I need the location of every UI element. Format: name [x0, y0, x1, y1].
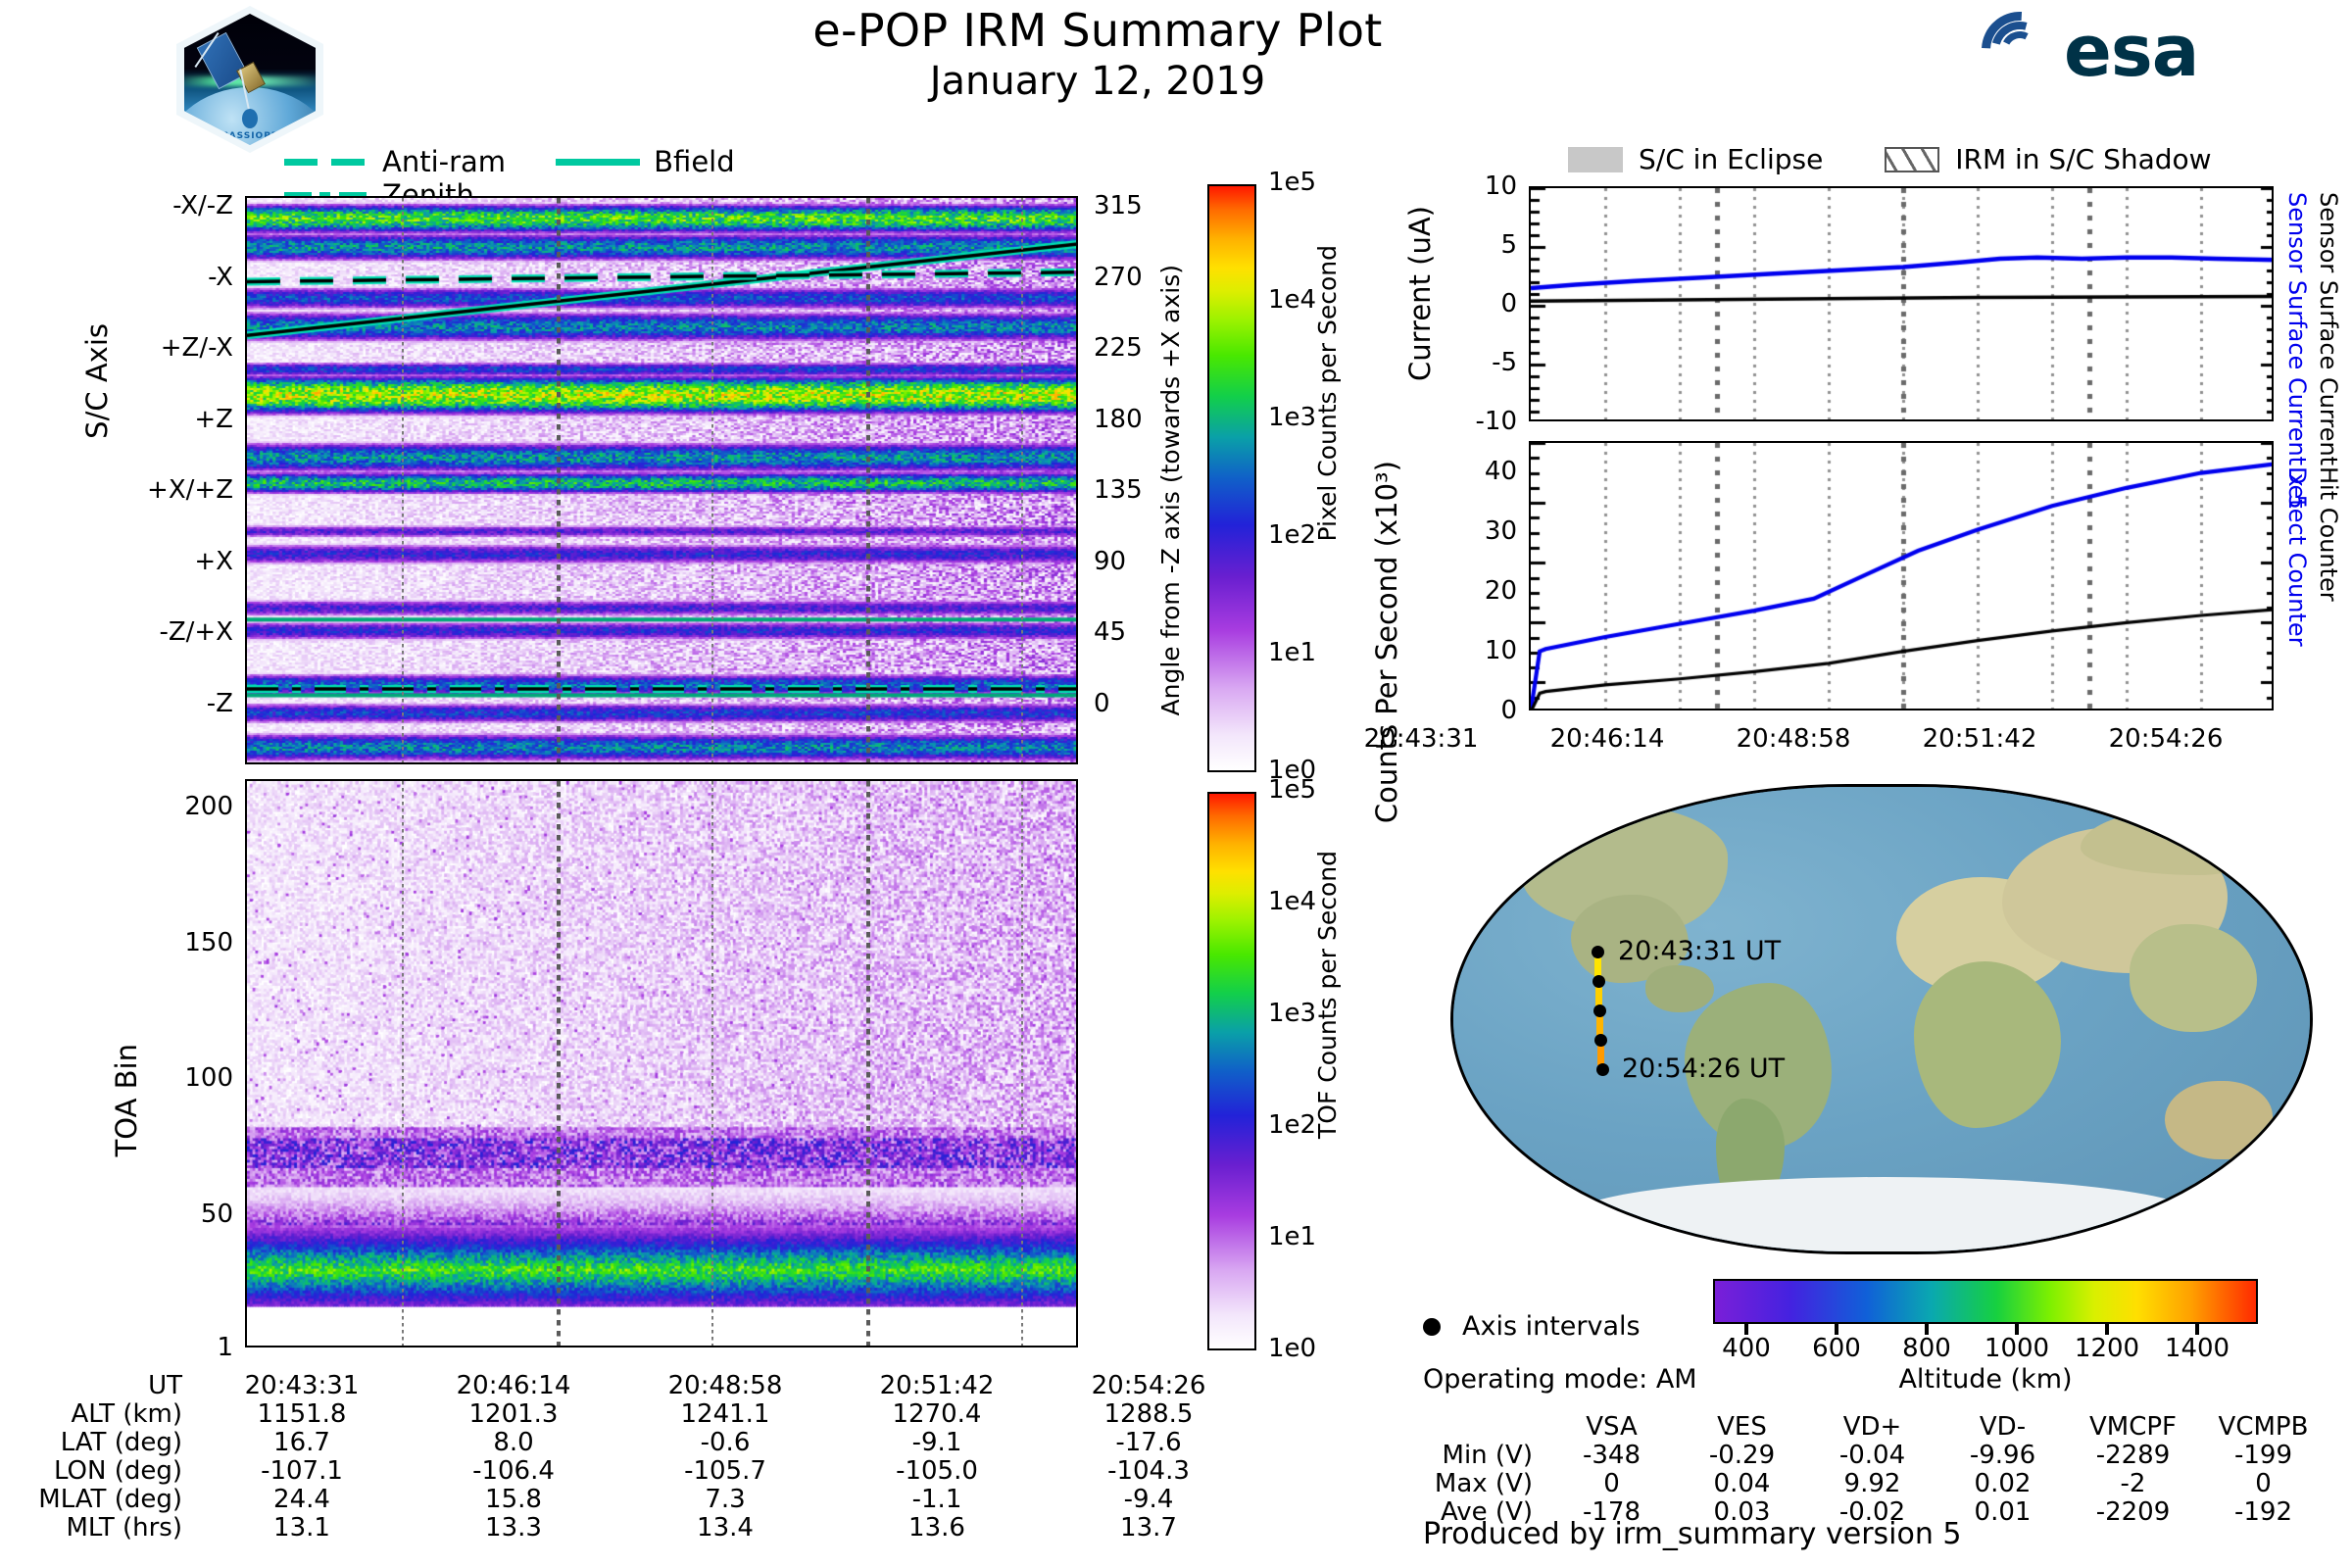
- altitude-colorbar-tick: 800: [1884, 1334, 1970, 1363]
- table-row: MLAT (deg)24.415.87.3-1.1-9.4: [29, 1486, 1254, 1514]
- counts-x-tick-label: 20:54:26: [2058, 724, 2274, 754]
- table-cell: 20:54:26: [1043, 1372, 1254, 1400]
- table-cell: -2289: [2068, 1442, 2198, 1470]
- table-cell: -104.3: [1043, 1457, 1254, 1486]
- table-cell: -1.1: [831, 1486, 1043, 1514]
- spectrogram-angle-tick-label: 225: [1094, 333, 1182, 363]
- current-y-tick-label: 10: [1411, 171, 1517, 201]
- cassiope-logo-text: CASSIOPE: [184, 131, 316, 141]
- altitude-colorbar-tick: 600: [1793, 1334, 1880, 1363]
- table-cell: 13.7: [1043, 1514, 1254, 1543]
- table-cell: 0: [1546, 1470, 1677, 1498]
- tof-colorbar-tick: 1e4: [1268, 887, 1316, 916]
- table-row-label: MLT (hrs): [29, 1514, 196, 1543]
- table-row: MLT (hrs)13.113.313.413.613.7: [29, 1514, 1254, 1543]
- table-cell: 0: [2198, 1470, 2328, 1498]
- counts-x-tick-label: 20:48:58: [1686, 724, 1901, 754]
- table-header-row: VSAVESVD+VD-VMCPFVCMPB: [1419, 1413, 2328, 1442]
- table-cell: 1201.3: [408, 1400, 619, 1429]
- toa-y-axis-title: TOA Bin: [110, 1044, 143, 1156]
- table-cell: -9.4: [1043, 1486, 1254, 1514]
- table-cell: -105.7: [619, 1457, 831, 1486]
- operating-mode-label: Operating mode: AM: [1423, 1364, 1697, 1395]
- spectrogram-y-tick-label: +X: [76, 547, 233, 576]
- spectrogram-y-tick-label: -X: [76, 263, 233, 292]
- table-cell: 8.0: [408, 1429, 619, 1457]
- table-cell: 1288.5: [1043, 1400, 1254, 1429]
- pixel-colorbar[interactable]: [1207, 184, 1256, 772]
- table-row: Min (V)-348-0.29-0.04-9.96-2289-199: [1419, 1442, 2328, 1470]
- table-row-label: UT: [29, 1372, 196, 1400]
- legend-item-bfield: Bfield: [556, 145, 734, 178]
- legend-item-sc-eclipse: S/C in Eclipse: [1568, 143, 1823, 175]
- spectrogram-y-tick-label: -X/-Z: [76, 191, 233, 220]
- current-plot[interactable]: [1529, 186, 2274, 421]
- counts-right-label-blue: Detect Counter: [2283, 466, 2311, 647]
- pixel-colorbar-tick: 1e4: [1268, 285, 1316, 315]
- table-corner: [1419, 1413, 1546, 1442]
- toa-y-tick-label: 200: [98, 792, 233, 821]
- table-row-label: Max (V): [1419, 1470, 1546, 1498]
- counts-y-tick-label: 30: [1411, 516, 1517, 546]
- map-end-time-label: 20:54:26 UT: [1622, 1053, 1785, 1084]
- toa-y-tick-label: 1: [98, 1333, 233, 1362]
- legend-label-sc-eclipse: S/C in Eclipse: [1639, 143, 1823, 175]
- spectrogram-angle-tick-label: 45: [1094, 617, 1182, 647]
- spectrogram-angle-tick-label: 180: [1094, 405, 1182, 434]
- altitude-colorbar-tick: 400: [1703, 1334, 1789, 1363]
- counts-y-tick-label: 40: [1411, 457, 1517, 486]
- table-row-label: LAT (deg): [29, 1429, 196, 1457]
- spectrogram-angle-tick-label: 90: [1094, 547, 1182, 576]
- table-cell: -17.6: [1043, 1429, 1254, 1457]
- spectrogram-angle-tick-label: 270: [1094, 263, 1182, 292]
- table-cell: 9.92: [1807, 1470, 1937, 1498]
- counts-y-tick-label: 20: [1411, 576, 1517, 606]
- tof-colorbar-label: TOF Counts per Second: [1313, 851, 1342, 1139]
- table-cell: -199: [2198, 1442, 2328, 1470]
- orbit-map[interactable]: 20:43:31 UT 20:54:26 UT: [1450, 784, 2313, 1254]
- pixel-colorbar-tick: 1e5: [1268, 168, 1316, 197]
- table-cell: -192: [2198, 1498, 2328, 1527]
- table-row-label: LON (deg): [29, 1457, 196, 1486]
- table-cell: 15.8: [408, 1486, 619, 1514]
- table-cell: 0.02: [1937, 1470, 2068, 1498]
- eclipse-legend: S/C in Eclipse IRM in S/C Shadow: [1568, 143, 2212, 179]
- map-start-time-label: 20:43:31 UT: [1618, 936, 1781, 966]
- dot-marker-icon: [1423, 1318, 1441, 1336]
- altitude-colorbar[interactable]: [1713, 1279, 2258, 1324]
- tof-colorbar[interactable]: [1207, 792, 1256, 1350]
- table-cell: 1151.8: [196, 1400, 408, 1429]
- table-cell: 1241.1: [619, 1400, 831, 1429]
- grey-fill-icon: [1568, 147, 1623, 172]
- table-cell: 0.04: [1677, 1470, 1807, 1498]
- spectrogram-angle-tick-label: 315: [1094, 191, 1182, 220]
- title-main: e-POP IRM Summary Plot: [608, 4, 1588, 57]
- table-cell: 7.3: [619, 1486, 831, 1514]
- table-column-header: VSA: [1546, 1413, 1677, 1442]
- counts-x-tick-label: 20:51:42: [1872, 724, 2087, 754]
- table-row-label: ALT (km): [29, 1400, 196, 1429]
- table-cell: 13.3: [408, 1514, 619, 1543]
- table-cell: 13.4: [619, 1514, 831, 1543]
- title-date: January 12, 2019: [608, 59, 1588, 104]
- current-right-label-blue: Sensor Surface Current x 5: [2283, 192, 2311, 510]
- altitude-colorbar-tick: 1200: [2064, 1334, 2150, 1363]
- table-cell: -2209: [2068, 1498, 2198, 1527]
- table-column-header: VD-: [1937, 1413, 2068, 1442]
- pixel-colorbar-label: Pixel Counts per Second: [1313, 245, 1342, 541]
- counts-y-axis-title: Counts Per Second (x10³): [1370, 461, 1403, 823]
- altitude-colorbar-label: Altitude (km): [1713, 1364, 2258, 1395]
- axis-intervals-label: Axis intervals: [1462, 1311, 1641, 1342]
- spectrogram-y-tick-label: -Z/+X: [76, 617, 233, 647]
- tof-colorbar-tick: 1e3: [1268, 999, 1316, 1028]
- toa-spectrogram-plot[interactable]: [245, 779, 1078, 1347]
- table-cell: 13.1: [196, 1514, 408, 1543]
- altitude-colorbar-tickmark: [1835, 1324, 1838, 1335]
- altitude-colorbar-tickmark: [1744, 1324, 1748, 1335]
- altitude-colorbar-tickmark: [2015, 1324, 2019, 1335]
- tof-colorbar-tick: 1e2: [1268, 1110, 1316, 1140]
- table-cell: 13.6: [831, 1514, 1043, 1543]
- counts-plot[interactable]: [1529, 441, 2274, 710]
- table-cell: -2: [2068, 1470, 2198, 1498]
- counts-x-tick-label: 20:43:31: [1313, 724, 1529, 754]
- esa-logo-text: esa: [2064, 10, 2198, 92]
- spectrogram-legend: Anti-ram Bfield Zenith: [284, 145, 1009, 178]
- table-column-header: VD+: [1807, 1413, 1937, 1442]
- hatched-fill-icon: [1885, 147, 1939, 172]
- table-cell: -105.0: [831, 1457, 1043, 1486]
- spectrogram-angle-tick-label: 135: [1094, 475, 1182, 505]
- world-map[interactable]: 20:43:31 UT 20:54:26 UT: [1450, 784, 2313, 1254]
- voltage-table: VSAVESVD+VD-VMCPFVCMPBMin (V)-348-0.29-0…: [1419, 1413, 2328, 1527]
- tof-colorbar-tick: 1e1: [1268, 1222, 1316, 1251]
- legend-item-anti-ram: Anti-ram: [284, 145, 506, 178]
- table-cell: 1270.4: [831, 1400, 1043, 1429]
- altitude-colorbar-tickmark: [2195, 1324, 2199, 1335]
- altitude-colorbar-tick: 1000: [1974, 1334, 2060, 1363]
- axis-intervals-legend: Axis intervals: [1423, 1311, 1641, 1342]
- table-row: UT20:43:3120:46:1420:48:5820:51:4220:54:…: [29, 1372, 1254, 1400]
- table-column-header: VCMPB: [2198, 1413, 2328, 1442]
- spectrogram-angle-tick-label: 0: [1094, 689, 1182, 718]
- tof-colorbar-tick: 1e5: [1268, 775, 1316, 805]
- table-row: ALT (km)1151.81201.31241.11270.41288.5: [29, 1400, 1254, 1429]
- spectrogram-y-tick-label: +X/+Z: [76, 475, 233, 505]
- table-cell: -0.6: [619, 1429, 831, 1457]
- table-column-header: VES: [1677, 1413, 1807, 1442]
- page-title: e-POP IRM Summary Plot January 12, 2019: [608, 4, 1588, 104]
- counts-y-axis-title-wrap: Counts Per Second (x10³): [1370, 461, 1411, 823]
- tof-colorbar-tick: 1e0: [1268, 1334, 1316, 1363]
- table-cell: 20:48:58: [619, 1372, 831, 1400]
- toa-y-tick-label: 150: [98, 928, 233, 957]
- current-y-tick-label: 5: [1411, 230, 1517, 260]
- table-column-header: VMCPF: [2068, 1413, 2198, 1442]
- pixel-colorbar-tick: 1e1: [1268, 638, 1316, 667]
- table-cell: -9.1: [831, 1429, 1043, 1457]
- table-cell: -107.1: [196, 1457, 408, 1486]
- pixel-colorbar-tick: 1e2: [1268, 520, 1316, 550]
- table-cell: -9.96: [1937, 1442, 2068, 1470]
- table-row-label: Min (V): [1419, 1442, 1546, 1470]
- current-y-tick-label: 0: [1411, 289, 1517, 318]
- table-cell: 24.4: [196, 1486, 408, 1514]
- table-cell: -0.04: [1807, 1442, 1937, 1470]
- table-cell: -0.29: [1677, 1442, 1807, 1470]
- table-cell: 20:43:31: [196, 1372, 408, 1400]
- counts-y-tick-label: 10: [1411, 636, 1517, 665]
- current-right-label-black: Sensor Surface Current: [2315, 192, 2342, 465]
- legend-label-bfield: Bfield: [654, 145, 734, 178]
- counts-x-tick-label: 20:46:14: [1499, 724, 1715, 754]
- legend-label-anti-ram: Anti-ram: [382, 145, 506, 178]
- pixel-spectrogram-plot[interactable]: [245, 196, 1078, 764]
- current-y-tick-label: -10: [1411, 407, 1517, 436]
- spectrogram-y-tick-label: +Z: [76, 405, 233, 434]
- footer-produced-by: Produced by irm_summary version 5: [1423, 1517, 1961, 1551]
- legend-label-irm-shadow: IRM in S/C Shadow: [1955, 143, 2211, 175]
- cassiope-logo: CASSIOPE: [176, 6, 323, 153]
- altitude-colorbar-tickmark: [1925, 1324, 1929, 1335]
- pixel-colorbar-tick: 1e3: [1268, 403, 1316, 432]
- current-y-tick-label: -5: [1411, 348, 1517, 377]
- ephemeris-table: UT20:43:3120:46:1420:48:5820:51:4220:54:…: [29, 1372, 1254, 1543]
- esa-logo: esa: [1982, 6, 2276, 104]
- table-cell: 16.7: [196, 1429, 408, 1457]
- table-cell: 20:51:42: [831, 1372, 1043, 1400]
- table-row: Max (V)00.049.920.02-20: [1419, 1470, 2328, 1498]
- table-cell: 20:46:14: [408, 1372, 619, 1400]
- altitude-colorbar-tickmark: [2105, 1324, 2109, 1335]
- toa-y-tick-label: 100: [98, 1063, 233, 1093]
- spectrogram-y-tick-label: +Z/-X: [76, 333, 233, 363]
- altitude-colorbar-tick: 1400: [2154, 1334, 2240, 1363]
- table-cell: -348: [1546, 1442, 1677, 1470]
- table-row: LON (deg)-107.1-106.4-105.7-105.0-104.3: [29, 1457, 1254, 1486]
- legend-item-irm-shadow: IRM in S/C Shadow: [1885, 143, 2211, 175]
- table-cell: -106.4: [408, 1457, 619, 1486]
- toa-y-tick-label: 50: [98, 1200, 233, 1229]
- table-row-label: MLAT (deg): [29, 1486, 196, 1514]
- counts-y-tick-label: 0: [1411, 696, 1517, 725]
- table-row: LAT (deg)16.78.0-0.6-9.1-17.6: [29, 1429, 1254, 1457]
- spectrogram-y-tick-label: -Z: [76, 689, 233, 718]
- counts-right-label-black: Hit Counter: [2315, 466, 2342, 602]
